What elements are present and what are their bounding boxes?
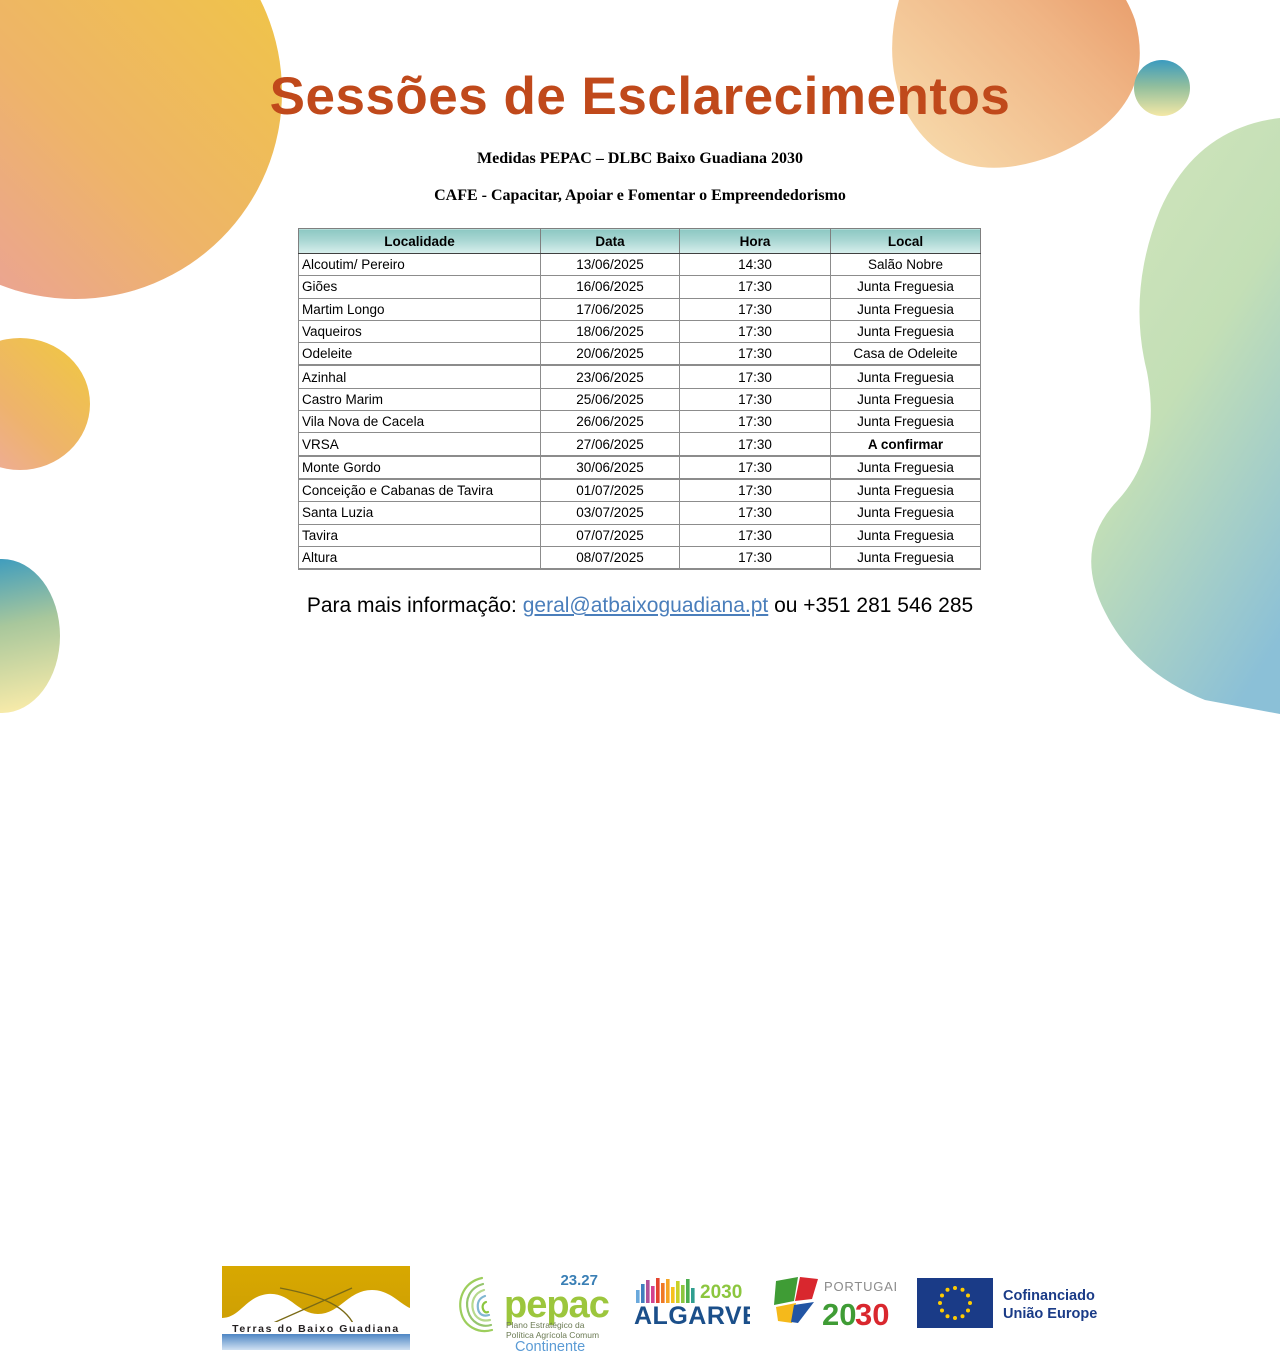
cell-local: Salão Nobre xyxy=(831,254,981,276)
table-row: Giões16/06/202517:30Junta Freguesia xyxy=(299,276,981,298)
cell-localidade: Martim Longo xyxy=(299,298,541,320)
column-header-local: Local xyxy=(831,229,981,254)
cell-hora: 14:30 xyxy=(680,254,831,276)
algarve-bars xyxy=(636,1278,695,1303)
cell-hora: 17:30 xyxy=(680,298,831,320)
logo-pepac: 23.27 pepac Plano Estratégico da Polític… xyxy=(452,1268,610,1357)
cell-localidade: Vila Nova de Cacela xyxy=(299,411,541,433)
eu-flag xyxy=(917,1278,993,1328)
cell-hora: 17:30 xyxy=(680,365,831,388)
cell-localidade: Azinhal xyxy=(299,365,541,388)
cell-data: 26/06/2025 xyxy=(541,411,680,433)
logo-strip: Terras do Baixo Guadiana 23.27 pepac Pla… xyxy=(0,632,1280,720)
subtitle-cafe: CAFE - Capacitar, Apoiar e Fomentar o Em… xyxy=(0,187,1280,205)
column-header-localidade: Localidade xyxy=(299,229,541,254)
table-header-row: Localidade Data Hora Local xyxy=(299,229,981,254)
table-row: Alcoutim/ Pereiro13/06/202514:30Salão No… xyxy=(299,254,981,276)
cell-hora: 17:30 xyxy=(680,433,831,456)
cell-data: 25/06/2025 xyxy=(541,388,680,410)
cell-local: Junta Freguesia xyxy=(831,411,981,433)
cell-data: 03/07/2025 xyxy=(541,502,680,524)
cell-localidade: Tavira xyxy=(299,524,541,546)
cell-localidade: Altura xyxy=(299,546,541,569)
cell-data: 16/06/2025 xyxy=(541,276,680,298)
cell-hora: 17:30 xyxy=(680,343,831,366)
table-row: Castro Marim25/06/202517:30Junta Fregues… xyxy=(299,388,981,410)
cell-data: 07/07/2025 xyxy=(541,524,680,546)
logo-terras-label: Terras do Baixo Guadiana xyxy=(232,1323,400,1335)
column-header-data: Data xyxy=(541,229,680,254)
cell-localidade: Odeleite xyxy=(299,343,541,366)
cell-local: Junta Freguesia xyxy=(831,388,981,410)
cell-hora: 17:30 xyxy=(680,546,831,569)
cell-local: Casa de Odeleite xyxy=(831,343,981,366)
logo-cofinanciado-uniao-europeia: Cofinanciado pela União Europeia xyxy=(917,1276,1097,1335)
slide-content: Sessões de Esclarecimentos Medidas PEPAC… xyxy=(0,0,1280,720)
cell-data: 18/06/2025 xyxy=(541,320,680,342)
cell-localidade: Santa Luzia xyxy=(299,502,541,524)
cell-data: 13/06/2025 xyxy=(541,254,680,276)
cell-local: Junta Freguesia xyxy=(831,546,981,569)
table-row: Odeleite20/06/202517:30Casa de Odeleite xyxy=(299,343,981,366)
logo-pepac-line1: Plano Estratégico da xyxy=(506,1320,585,1330)
cell-hora: 17:30 xyxy=(680,479,831,502)
contact-suffix: ou +351 281 546 285 xyxy=(768,594,973,617)
cell-hora: 17:30 xyxy=(680,456,831,479)
cell-local: Junta Freguesia xyxy=(831,298,981,320)
table-row: Tavira07/07/202517:30Junta Freguesia xyxy=(299,524,981,546)
logo-pepac-footer: Continente xyxy=(515,1339,585,1352)
logo-algarve-wordmark: ALGARVE xyxy=(634,1302,750,1330)
cell-data: 17/06/2025 xyxy=(541,298,680,320)
logo-portugal-year-red: 30 xyxy=(855,1297,889,1331)
page-title: Sessões de Esclarecimentos xyxy=(0,66,1280,127)
table-row: Vaqueiros18/06/202517:30Junta Freguesia xyxy=(299,320,981,342)
cell-localidade: Castro Marim xyxy=(299,388,541,410)
cell-localidade: VRSA xyxy=(299,433,541,456)
cell-local: Junta Freguesia xyxy=(831,479,981,502)
logo-portugal-2030: PORTUGAL 20 30 xyxy=(772,1275,896,1336)
table-row: Altura08/07/202517:30Junta Freguesia xyxy=(299,546,981,569)
cell-hora: 17:30 xyxy=(680,320,831,342)
cell-hora: 17:30 xyxy=(680,388,831,410)
cell-hora: 17:30 xyxy=(680,276,831,298)
cell-localidade: Conceição e Cabanas de Tavira xyxy=(299,479,541,502)
table-row: VRSA27/06/202517:30A confirmar xyxy=(299,433,981,456)
cell-local: Junta Freguesia xyxy=(831,320,981,342)
cell-localidade: Alcoutim/ Pereiro xyxy=(299,254,541,276)
cell-hora: 17:30 xyxy=(680,502,831,524)
cell-data: 01/07/2025 xyxy=(541,479,680,502)
schedule-table: Localidade Data Hora Local Alcoutim/ Per… xyxy=(298,228,981,570)
logo-algarve-2030: 2030 ALGARVE xyxy=(632,1276,750,1337)
portugal-flag-mark xyxy=(774,1277,818,1323)
logo-portugal-wordmark: PORTUGAL xyxy=(824,1279,896,1294)
contact-line: Para mais informação: geral@atbaixoguadi… xyxy=(0,594,1280,618)
schedule-table-body: Alcoutim/ Pereiro13/06/202514:30Salão No… xyxy=(299,254,981,570)
cell-local: A confirmar xyxy=(831,433,981,456)
table-row: Conceição e Cabanas de Tavira01/07/20251… xyxy=(299,479,981,502)
cell-data: 20/06/2025 xyxy=(541,343,680,366)
cell-local: Junta Freguesia xyxy=(831,524,981,546)
logo-eu-line2: União Europeia xyxy=(1003,1306,1097,1322)
cell-localidade: Vaqueiros xyxy=(299,320,541,342)
table-row: Monte Gordo30/06/202517:30Junta Freguesi… xyxy=(299,456,981,479)
table-row: Azinhal23/06/202517:30Junta Freguesia xyxy=(299,365,981,388)
cell-local: Junta Freguesia xyxy=(831,276,981,298)
logo-portugal-year-green: 20 xyxy=(822,1297,856,1331)
column-header-hora: Hora xyxy=(680,229,831,254)
cell-localidade: Monte Gordo xyxy=(299,456,541,479)
cell-hora: 17:30 xyxy=(680,411,831,433)
contact-prefix: Para mais informação: xyxy=(307,594,523,617)
table-row: Santa Luzia03/07/202517:30Junta Freguesi… xyxy=(299,502,981,524)
table-row: Martim Longo17/06/202517:30Junta Fregues… xyxy=(299,298,981,320)
cell-hora: 17:30 xyxy=(680,524,831,546)
contact-email-link[interactable]: geral@atbaixoguadiana.pt xyxy=(523,594,769,617)
cell-data: 23/06/2025 xyxy=(541,365,680,388)
schedule-table-container: Localidade Data Hora Local Alcoutim/ Per… xyxy=(298,228,980,570)
cell-data: 27/06/2025 xyxy=(541,433,680,456)
cell-data: 30/06/2025 xyxy=(541,456,680,479)
table-row: Vila Nova de Cacela26/06/202517:30Junta … xyxy=(299,411,981,433)
cell-local: Junta Freguesia xyxy=(831,365,981,388)
logo-algarve-year: 2030 xyxy=(700,1282,742,1303)
cell-localidade: Giões xyxy=(299,276,541,298)
cell-data: 08/07/2025 xyxy=(541,546,680,569)
logo-eu-line1: Cofinanciado pela xyxy=(1003,1288,1097,1304)
logo-terras-do-baixo-guadiana: Terras do Baixo Guadiana xyxy=(222,1266,410,1355)
cell-local: Junta Freguesia xyxy=(831,502,981,524)
subtitle-measures: Medidas PEPAC – DLBC Baixo Guadiana 2030 xyxy=(0,150,1280,168)
cell-local: Junta Freguesia xyxy=(831,456,981,479)
